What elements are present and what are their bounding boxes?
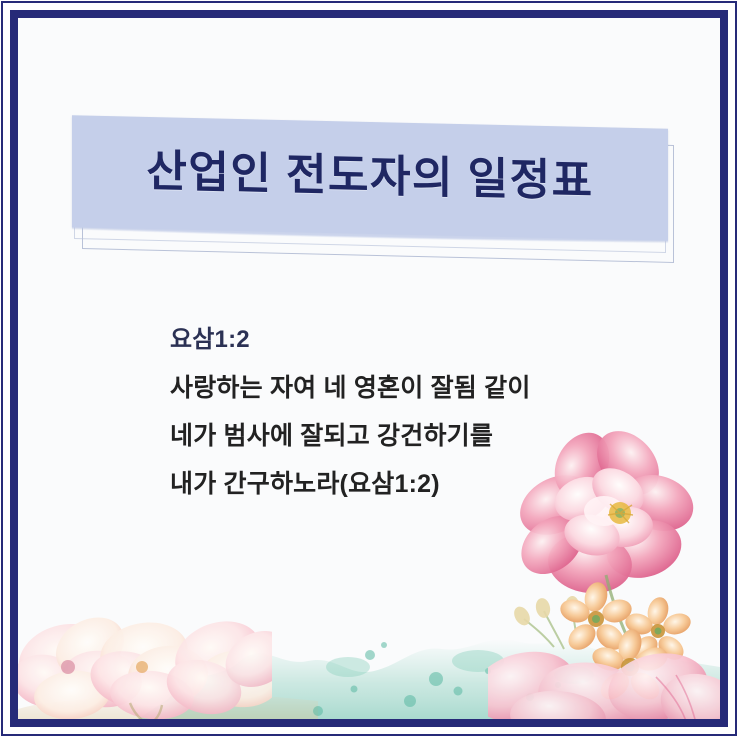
watercolor-bottom-wash: [18, 549, 720, 719]
verse-reference: 요삼1:2: [170, 316, 640, 364]
page-title: 산업인 전도자의 일정표: [72, 109, 668, 235]
verse-line-1: 사랑하는 자여 네 영혼이 잘됨 같이: [170, 364, 640, 412]
slide-canvas: 산업인 전도자의 일정표 요삼1:2 사랑하는 자여 네 영혼이 잘됨 같이 네…: [0, 0, 738, 737]
verse-block: 요삼1:2 사랑하는 자여 네 영혼이 잘됨 같이 네가 범사에 잘되고 강건하…: [170, 316, 640, 508]
title-banner: 산업인 전도자의 일정표: [72, 116, 672, 261]
verse-line-3: 내가 간구하노라(요삼1:2): [170, 460, 640, 508]
slide-content-area: 산업인 전도자의 일정표 요삼1:2 사랑하는 자여 네 영혼이 잘됨 같이 네…: [18, 18, 720, 719]
verse-line-2: 네가 범사에 잘되고 강건하기를: [170, 412, 640, 460]
watercolor-flowers-bottom-left: [18, 563, 272, 719]
